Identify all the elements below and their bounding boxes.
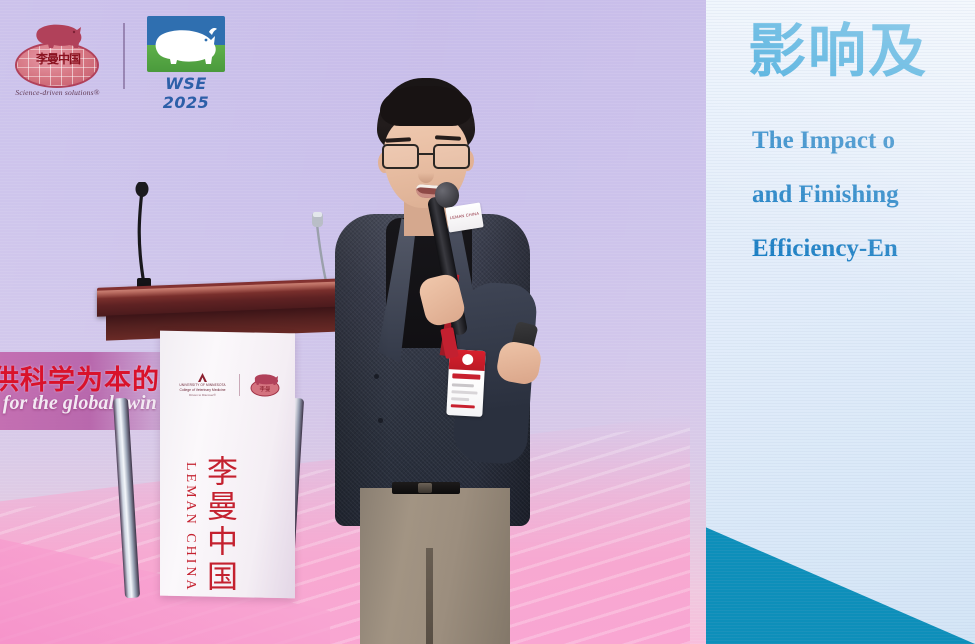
presenter: LEMAN CHINA (330, 78, 580, 644)
glasses-bridge (419, 153, 434, 155)
screen-pixel-texture (706, 0, 975, 644)
trouser-inseam (426, 548, 433, 644)
wse-2025-logo: WSE 2025 (143, 14, 229, 98)
badge-line (452, 373, 480, 379)
wse-logo-panel (147, 16, 225, 72)
backdrop-banner-english: s for the global swin (0, 392, 180, 415)
badge-line (451, 390, 477, 394)
podium-logo-divider (239, 374, 240, 396)
stage-photo: 供科学为本的 s for the global swin 李曼中国 Scienc… (0, 0, 975, 644)
badge-line (452, 383, 474, 387)
umn-logo-line-1: UNIVERSITY OF MINNESOTA (179, 383, 225, 387)
presentation-screen: 影响及 The Impact o and Finishing Efficienc… (706, 0, 975, 644)
backdrop-logo-row: 李曼中国 Science-driven solutions® WSE 2025 (10, 12, 229, 100)
podium-logo-row: UNIVERSITY OF MINNESOTA College of Veter… (172, 368, 284, 402)
gooseneck-mic-left (124, 182, 174, 297)
leman-logo-chinese: 李曼中国 (28, 53, 88, 65)
nose (418, 166, 434, 183)
conference-badge (446, 349, 485, 417)
jacket-button (374, 374, 379, 379)
podium-leman-logo: 李曼 (246, 370, 284, 400)
leman-pig-globe-icon: 李曼 (249, 372, 281, 398)
microphone-flag-text: LEMAN CHINA (449, 211, 479, 221)
leman-logo-tagline: Science-driven solutions® (10, 88, 105, 97)
podium-text-chinese: 李曼中国 (203, 455, 234, 595)
logo-divider (123, 23, 125, 89)
leman-china-logo: 李曼中国 Science-driven solutions® (10, 12, 105, 100)
umn-mark-icon (196, 373, 209, 382)
glasses-lens-left (382, 144, 419, 169)
jacket-button (378, 418, 383, 423)
glasses-lens-right (433, 144, 470, 169)
badge-line (451, 397, 469, 401)
trousers (360, 488, 510, 644)
podium-text-english: LEMAN CHINA (183, 462, 197, 593)
belt-buckle (418, 483, 432, 493)
umn-vetmed-logo: UNIVERSITY OF MINNESOTA College of Veter… (172, 370, 233, 400)
badge-line (451, 404, 475, 408)
svg-text:李曼: 李曼 (259, 385, 271, 393)
umn-logo-line-3: Driven to Discover® (189, 393, 216, 397)
wse-logo-text: WSE 2025 (143, 74, 229, 112)
umn-logo-line-2: College of Veterinary Medicine (180, 388, 226, 392)
hair-fringe (380, 86, 472, 126)
pig-silhouette-icon (153, 23, 219, 67)
pig-icon (32, 20, 84, 48)
